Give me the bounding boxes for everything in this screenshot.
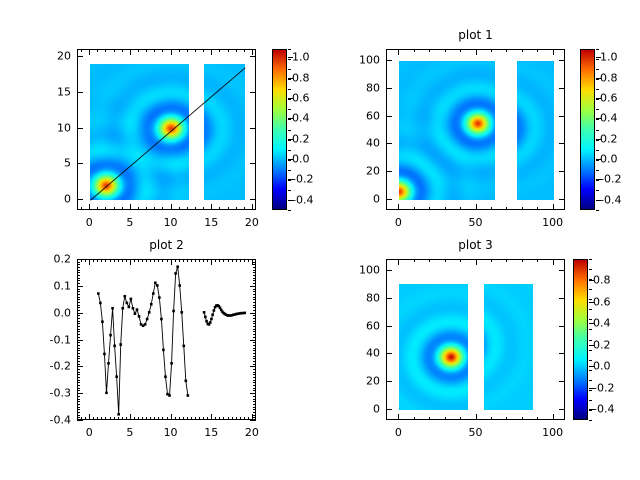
panel-bottom-right-title: plot 3	[386, 239, 565, 251]
panel-bottom-right-xminortick	[460, 259, 461, 262]
panel-bottom-right-xminortick	[398, 417, 399, 420]
panel-bottom-right: plot 30501000204060801000.80.60.40.20.0-…	[0, 0, 640, 480]
panel-bottom-right-yticklabel: 80	[346, 292, 380, 303]
panel-bottom-right-image-patch	[484, 284, 533, 410]
panel-bottom-right-cbminortick	[589, 390, 592, 391]
panel-bottom-right-ytick	[559, 409, 565, 410]
panel-bottom-right-cbminortick	[589, 309, 592, 310]
panel-bottom-right-ytick	[386, 381, 392, 382]
panel-bottom-right-yticklabel: 100	[346, 265, 380, 276]
panel-bottom-right-cbminortick	[589, 319, 592, 320]
panel-bottom-right-axes	[386, 259, 565, 420]
panel-bottom-right-ytick	[386, 353, 392, 354]
panel-bottom-right-yticklabel: 60	[346, 320, 380, 331]
panel-bottom-right-ytick	[386, 409, 392, 410]
panel-bottom-right-yticklabel: 20	[346, 376, 380, 387]
panel-bottom-right-cbminortick	[589, 360, 592, 361]
panel-bottom-right-yticklabel: 0	[346, 403, 380, 414]
panel-bottom-right-xminortick	[522, 417, 523, 420]
panel-bottom-right-cbminortick	[589, 269, 592, 270]
panel-bottom-right-xminortick	[522, 259, 523, 262]
panel-bottom-right-xminortick	[491, 259, 492, 262]
panel-bottom-right-cbminortick	[589, 299, 592, 300]
panel-bottom-right-cbminortick	[589, 340, 592, 341]
panel-bottom-right-xminortick	[537, 417, 538, 420]
panel-bottom-right-colorbar	[573, 259, 588, 420]
panel-bottom-right-xminortick	[476, 417, 477, 420]
panel-bottom-right-cbminortick	[589, 380, 592, 381]
panel-bottom-right-cbticklabel: 0.2	[593, 339, 611, 350]
panel-bottom-right-xminortick	[491, 417, 492, 420]
panel-bottom-right-cbminortick	[589, 420, 592, 421]
panel-bottom-right-cbminortick	[589, 329, 592, 330]
panel-bottom-right-ytick	[559, 353, 565, 354]
panel-bottom-right-cbticklabel: -0.4	[593, 404, 614, 415]
panel-bottom-right-ytick	[386, 326, 392, 327]
panel-bottom-right-cbticklabel: 0.6	[593, 296, 611, 307]
panel-bottom-right-colorbar-gradient	[574, 260, 587, 419]
panel-bottom-right-xminortick	[445, 417, 446, 420]
panel-bottom-right-xminortick	[537, 259, 538, 262]
panel-bottom-right-cbticklabel: 0.4	[593, 318, 611, 329]
panel-bottom-right-xminortick	[429, 417, 430, 420]
panel-bottom-right-xminortick	[506, 259, 507, 262]
panel-bottom-right-cbticklabel: 0.8	[593, 275, 611, 286]
panel-bottom-right-cbminortick	[589, 259, 592, 260]
panel-bottom-right-ytick	[386, 298, 392, 299]
panel-bottom-right-xticklabel: 50	[469, 427, 483, 438]
panel-bottom-right-xminortick	[398, 259, 399, 262]
panel-bottom-right-yticklabel: 40	[346, 348, 380, 359]
panel-bottom-right-xminortick	[429, 259, 430, 262]
panel-bottom-right-xminortick	[506, 417, 507, 420]
panel-bottom-right-ytick	[559, 381, 565, 382]
panel-bottom-right-cbminortick	[589, 410, 592, 411]
panel-bottom-right-xticklabel: 0	[395, 427, 402, 438]
panel-bottom-right-xminortick	[553, 259, 554, 262]
panel-bottom-right-ytick	[559, 270, 565, 271]
panel-bottom-right-cbminortick	[589, 350, 592, 351]
panel-bottom-right-ytick	[559, 326, 565, 327]
panel-bottom-right-ytick	[386, 270, 392, 271]
panel-bottom-right-xminortick	[460, 417, 461, 420]
panel-bottom-right-image-patch	[399, 284, 468, 410]
panel-bottom-right-ytick	[559, 298, 565, 299]
panel-bottom-right-cbticklabel: -0.2	[593, 382, 614, 393]
panel-bottom-right-cbminortick	[589, 279, 592, 280]
panel-bottom-right-cbminortick	[589, 289, 592, 290]
panel-bottom-right-cbminortick	[589, 370, 592, 371]
panel-bottom-right-xminortick	[414, 259, 415, 262]
panel-bottom-right-xminortick	[414, 417, 415, 420]
panel-bottom-right-xminortick	[553, 417, 554, 420]
panel-bottom-right-xminortick	[476, 259, 477, 262]
panel-bottom-right-cbminortick	[589, 400, 592, 401]
figure-canvas: 05101520051015201.00.80.60.40.20.0-0.2-0…	[0, 0, 640, 480]
panel-bottom-right-xminortick	[445, 259, 446, 262]
panel-bottom-right-cbticklabel: 0.0	[593, 361, 611, 372]
panel-bottom-right-xticklabel: 100	[542, 427, 563, 438]
